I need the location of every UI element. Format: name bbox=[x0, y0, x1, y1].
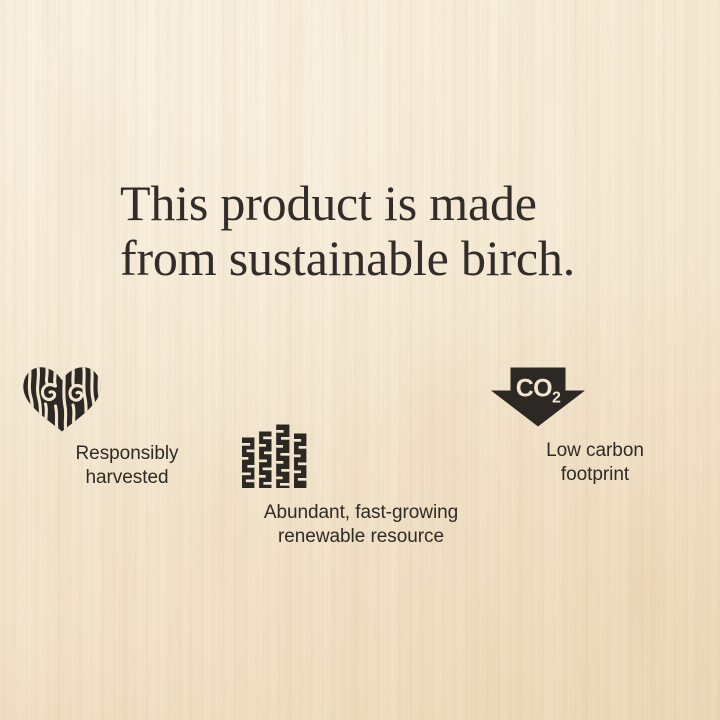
birch-trunks-icon bbox=[241, 424, 481, 488]
feature-responsibly-harvested: Responsibly harvested bbox=[22, 366, 232, 490]
headline-line-1: This product is made bbox=[120, 176, 640, 231]
headline: This product is made from sustainable bi… bbox=[120, 176, 640, 285]
birch-panel: This product is made from sustainable bi… bbox=[0, 0, 720, 720]
co2-icon-subscript: 2 bbox=[552, 390, 561, 407]
feature-renewable-resource: Abundant, fast-growing renewable resourc… bbox=[241, 424, 481, 549]
feature-label-renewable-resource: Abundant, fast-growing renewable resourc… bbox=[241, 501, 481, 549]
co2-down-arrow-icon: CO2 bbox=[490, 366, 700, 428]
panel-content: This product is made from sustainable bi… bbox=[0, 0, 720, 720]
headline-line-2: from sustainable birch. bbox=[120, 231, 640, 286]
feature-label-low-carbon-footprint: Low carbon footprint bbox=[490, 439, 700, 487]
feature-label-responsibly-harvested: Responsibly harvested bbox=[22, 442, 232, 490]
feature-low-carbon-footprint: CO2 Low carbon footprint bbox=[490, 366, 700, 487]
wood-grain-heart-icon bbox=[22, 366, 232, 432]
